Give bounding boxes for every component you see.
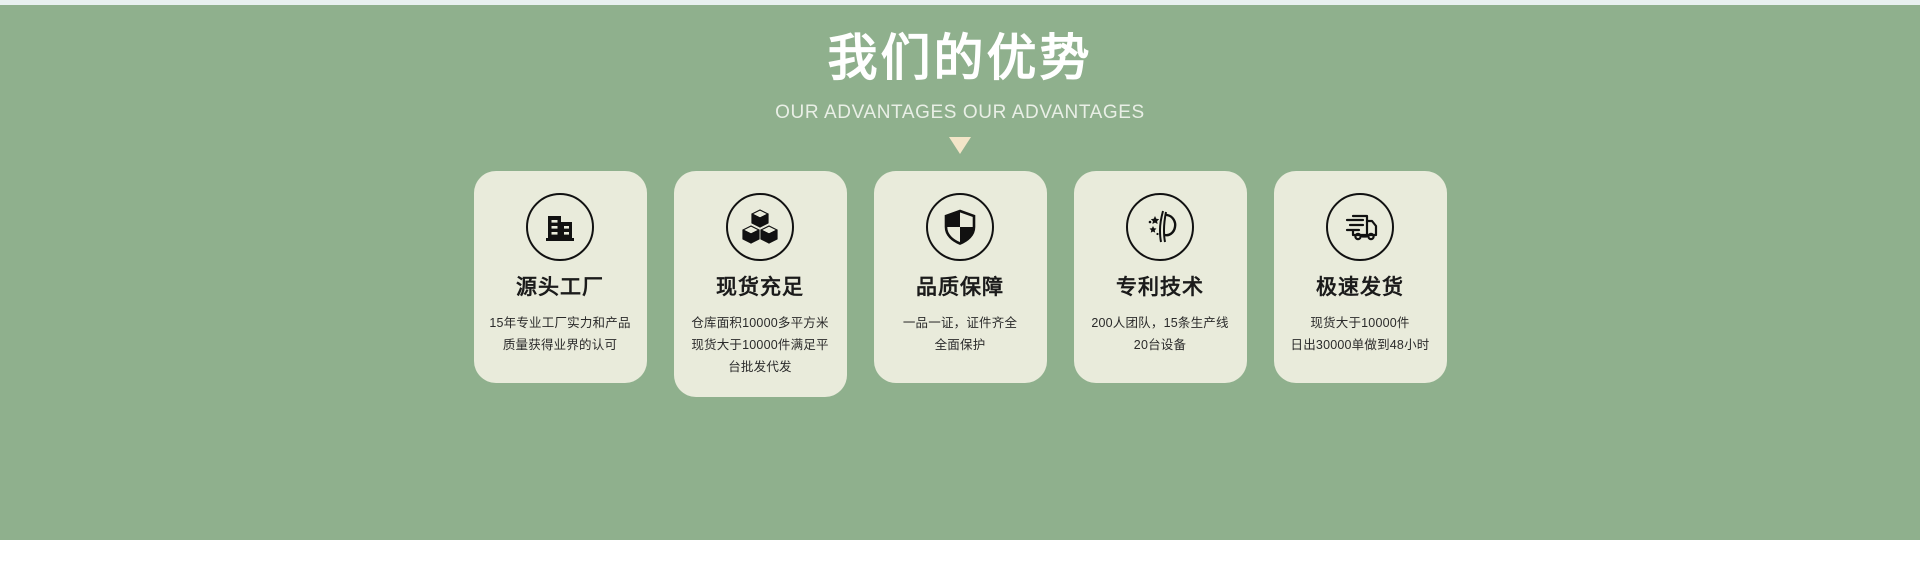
triangle-down-icon (949, 137, 971, 154)
advantage-card-title: 极速发货 (1316, 275, 1404, 300)
advantage-card-description: 200人团队，15条生产线 20台设备 (1091, 313, 1228, 357)
desc-line: 台批发代发 (691, 357, 828, 379)
shield-quality-icon (926, 193, 994, 261)
fast-delivery-truck-icon (1326, 193, 1394, 261)
advantage-card[interactable]: 极速发货 现货大于10000件 日出30000单做到48小时 (1274, 171, 1447, 383)
advantage-card-list: 源头工厂 15年专业工厂实力和产品 质量获得业界的认可 (0, 171, 1920, 397)
advantage-card[interactable]: 品质保障 一品一证，证件齐全 全面保护 (874, 171, 1047, 383)
desc-line: 20台设备 (1091, 335, 1228, 357)
advantage-card-title: 源头工厂 (516, 275, 604, 300)
desc-line: 现货大于10000件 (1291, 313, 1430, 335)
arrow-container (0, 124, 1920, 159)
green-background-panel: 我们的优势 OUR ADVANTAGES OUR ADVANTAGES (0, 5, 1920, 540)
advantage-card[interactable]: 源头工厂 15年专业工厂实力和产品 质量获得业界的认可 (474, 171, 647, 383)
section-title: 我们的优势 (0, 5, 1920, 90)
advantage-card-description: 15年专业工厂实力和产品 质量获得业界的认可 (489, 313, 630, 357)
advantage-card-title: 现货充足 (716, 275, 804, 300)
factory-building-icon (526, 193, 594, 261)
advantage-card[interactable]: 专利技术 200人团队，15条生产线 20台设备 (1074, 171, 1247, 383)
advantage-card-description: 一品一证，证件齐全 全面保护 (903, 313, 1017, 357)
desc-line: 一品一证，证件齐全 (903, 313, 1017, 335)
patent-star-icon (1126, 193, 1194, 261)
advantage-card-description: 现货大于10000件 日出30000单做到48小时 (1291, 313, 1430, 357)
advantage-card[interactable]: 现货充足 仓库面积10000多平方米 现货大于10000件满足平 台批发代发 (674, 171, 847, 397)
advantage-card-description: 仓库面积10000多平方米 现货大于10000件满足平 台批发代发 (691, 313, 828, 379)
desc-line: 质量获得业界的认可 (489, 335, 630, 357)
desc-line: 全面保护 (903, 335, 1017, 357)
section-header: 我们的优势 OUR ADVANTAGES OUR ADVANTAGES (0, 5, 1920, 159)
desc-line: 日出30000单做到48小时 (1291, 335, 1430, 357)
advantage-card-title: 品质保障 (916, 275, 1004, 300)
section-subtitle: OUR ADVANTAGES OUR ADVANTAGES (0, 90, 1920, 124)
advantages-section: 我们的优势 OUR ADVANTAGES OUR ADVANTAGES (0, 0, 1920, 565)
advantage-card-title: 专利技术 (1116, 275, 1204, 300)
desc-line: 仓库面积10000多平方米 (691, 313, 828, 335)
desc-line: 15年专业工厂实力和产品 (489, 313, 630, 335)
desc-line: 200人团队，15条生产线 (1091, 313, 1228, 335)
stacked-boxes-icon (726, 193, 794, 261)
desc-line: 现货大于10000件满足平 (691, 335, 828, 357)
